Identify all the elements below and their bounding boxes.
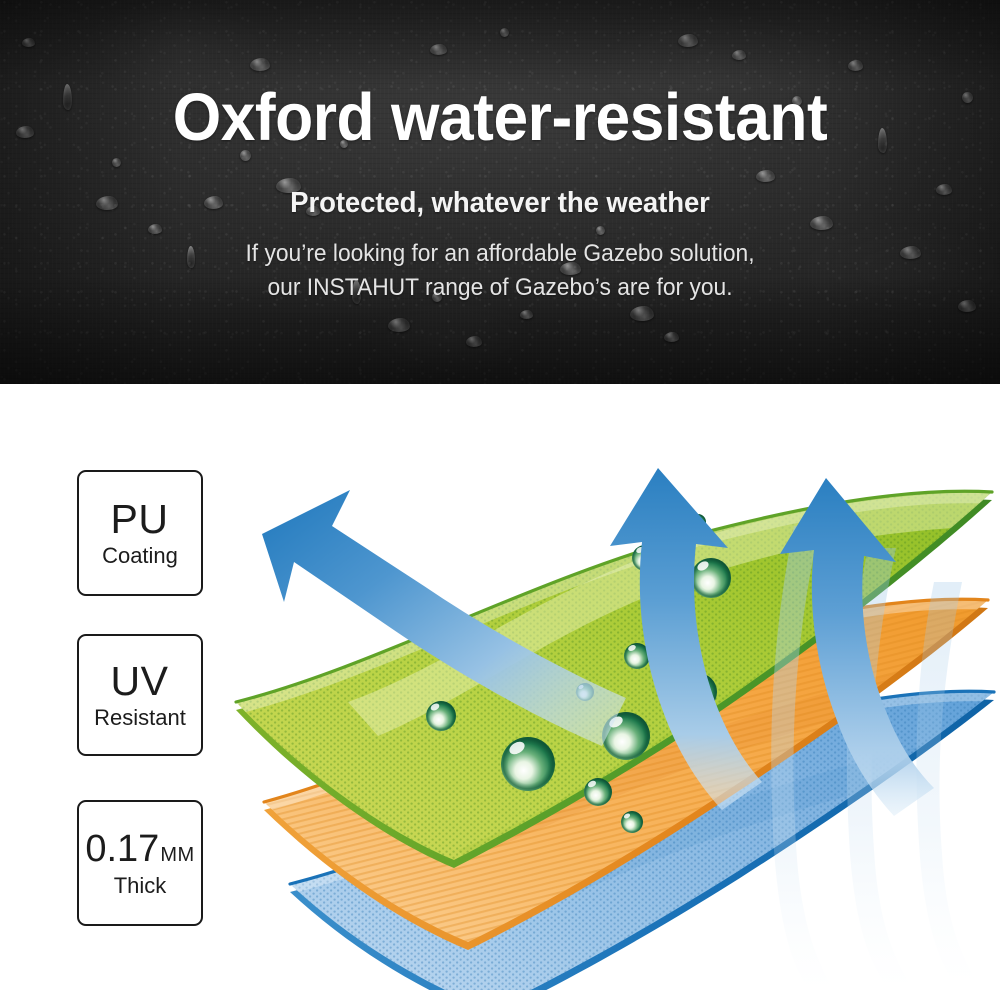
spec-badge-value-text: UV — [111, 659, 169, 703]
infographic-page: Oxford water-resistant Protected, whatev… — [0, 0, 1000, 1000]
spec-badge-label: Thick — [114, 873, 167, 899]
water-droplet-icon — [426, 701, 456, 731]
page-subtitle: Protected, whatever the weather — [25, 186, 975, 220]
spec-badge-value-text: PU — [111, 497, 169, 541]
page-description-line-2: our INSTAHUT range of Gazebo’s are for y… — [25, 271, 975, 305]
water-droplet-icon — [584, 778, 612, 806]
page-description: If you’re looking for an affordable Gaze… — [25, 237, 975, 305]
spec-badge-label: Coating — [102, 543, 178, 569]
page-description-line-1: If you’re looking for an affordable Gaze… — [25, 237, 975, 271]
page-title: Oxford water-resistant — [35, 82, 965, 154]
spec-badge-unit: MM — [160, 845, 194, 865]
water-droplet-icon — [691, 558, 731, 598]
spec-badge-value-text: 0.17 — [85, 827, 159, 871]
spec-badge-value: 0.17 MM — [85, 827, 194, 871]
spec-badge-uv-resistant: UV Resistant — [77, 634, 203, 756]
hero-banner: Oxford water-resistant Protected, whatev… — [0, 0, 1000, 384]
spec-badge-pu-coating: PU Coating — [77, 470, 203, 596]
spec-badge-label: Resistant — [94, 705, 186, 731]
fabric-layers-illustration — [228, 430, 1000, 990]
spec-badge-value: UV — [111, 659, 170, 703]
water-droplet-icon — [501, 737, 555, 791]
spec-badge-value: PU — [111, 497, 170, 541]
spec-badge-thickness: 0.17 MM Thick — [77, 800, 203, 926]
water-droplet-icon — [621, 811, 643, 833]
